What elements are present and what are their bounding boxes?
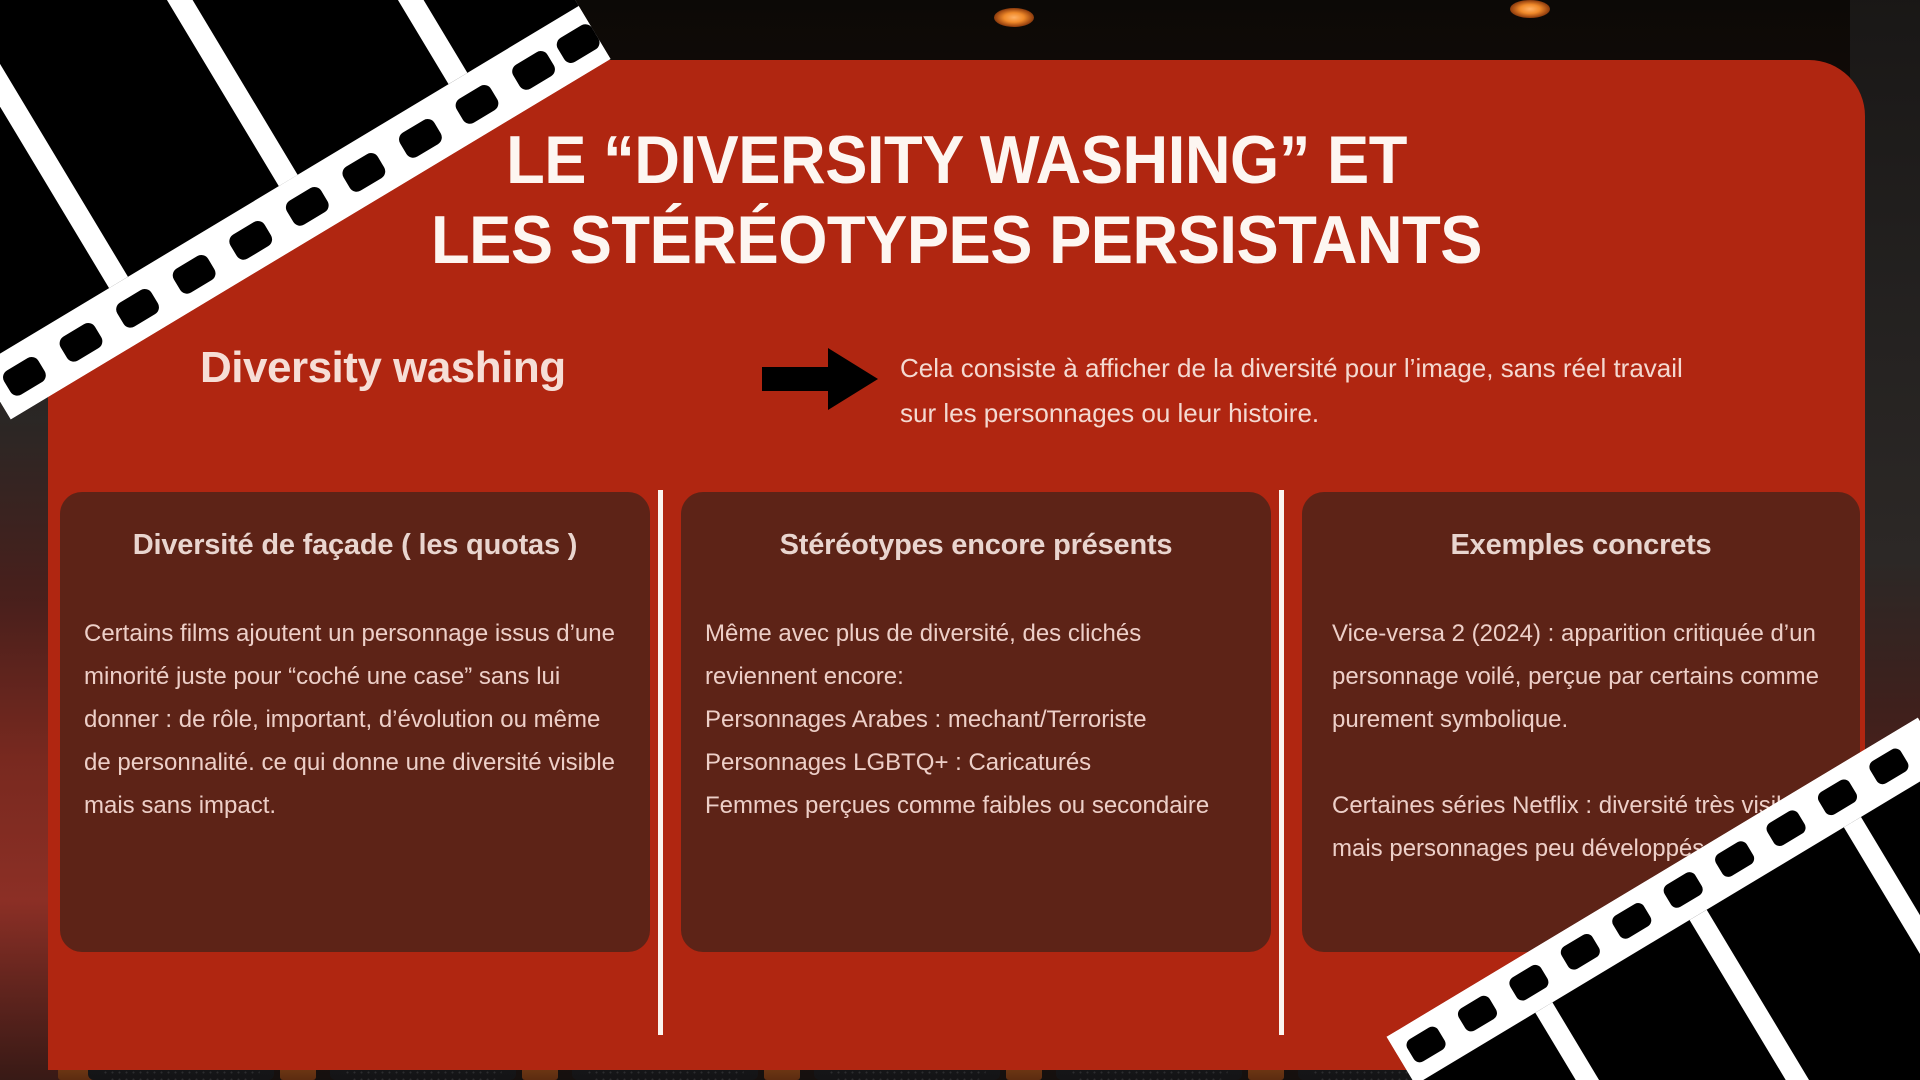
- column-divider: [658, 490, 663, 1035]
- column-divider: [1279, 490, 1284, 1035]
- card-title: Diversité de façade ( les quotas ): [74, 526, 636, 564]
- ceiling-lamp-icon: [994, 8, 1034, 27]
- card-body: Vice-versa 2 (2024) : apparition critiqu…: [1316, 612, 1846, 870]
- card-body: Certains films ajoutent un personnage is…: [74, 612, 636, 827]
- ceiling-lamp-icon: [1510, 0, 1550, 18]
- presentation-slide: 16 15 14 13 12: [0, 0, 1920, 1080]
- arrow-right-icon: [740, 340, 900, 410]
- definition-term: Diversity washing: [200, 340, 740, 396]
- column-card-diversite-de-facade: Diversité de façade ( les quotas ) Certa…: [60, 492, 650, 952]
- card-body: Même avec plus de diversité, des clichés…: [695, 612, 1257, 827]
- ceiling-lamp-icon: [484, 38, 518, 55]
- card-title: Stéréotypes encore présents: [695, 526, 1257, 564]
- column-card-stereotypes-encore-presents: Stéréotypes encore présents Même avec pl…: [681, 492, 1271, 952]
- card-title: Exemples concrets: [1316, 526, 1846, 564]
- definition-row: Diversity washing Cela consiste à affich…: [200, 340, 1800, 436]
- definition-description: Cela consiste à afficher de la diversité…: [900, 340, 1690, 436]
- columns-container: Diversité de façade ( les quotas ) Certa…: [60, 492, 1860, 952]
- column-card-exemples-concrets: Exemples concrets Vice-versa 2 (2024) : …: [1302, 492, 1860, 952]
